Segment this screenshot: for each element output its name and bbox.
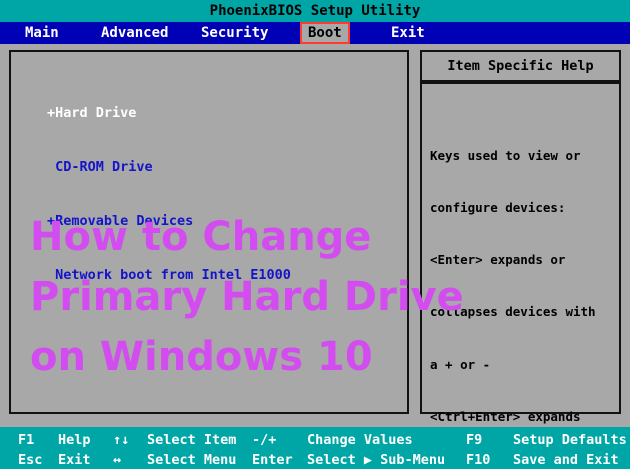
fn-key-f1[interactable]: F1 xyxy=(18,430,34,450)
item-help-title: Item Specific Help xyxy=(422,52,619,80)
boot-list-item-removable-devices[interactable]: +Removable Devices xyxy=(47,212,291,230)
fn-label-setup-defaults: Setup Defaults xyxy=(513,430,627,450)
fn-key-f9[interactable]: F9 xyxy=(466,430,482,450)
help-line: a + or - xyxy=(430,356,620,373)
function-key-row-1: F1 Help ↑↓ Select Item -/+ Change Values… xyxy=(0,430,630,450)
fn-key-updown-icon: ↑↓ xyxy=(113,430,129,450)
help-line: <Ctrl+Enter> expands xyxy=(430,408,620,425)
fn-label-save-and-exit: Save and Exit xyxy=(513,450,619,469)
fn-label-select-menu: Select Menu xyxy=(147,450,236,469)
fn-key-leftright-icon: ↔ xyxy=(113,450,121,469)
expand-marker-icon[interactable]: + xyxy=(47,213,55,229)
boot-list-item-label: Removable Devices xyxy=(55,213,193,229)
boot-list-item-cd-rom-drive[interactable]: CD-ROM Drive xyxy=(47,158,291,176)
fn-key-minus-plus[interactable]: -/+ xyxy=(252,430,276,450)
menu-tab-security[interactable]: Security xyxy=(198,22,271,44)
function-key-bar: F1 Help ↑↓ Select Item -/+ Change Values… xyxy=(0,427,630,469)
fn-label-select-submenu: Select ▶ Sub-Menu xyxy=(307,450,445,469)
fn-key-esc[interactable]: Esc xyxy=(18,450,42,469)
boot-list-item-label: CD-ROM Drive xyxy=(55,159,153,175)
help-line: collapses devices with xyxy=(430,303,620,320)
menu-tab-main[interactable]: Main xyxy=(22,22,62,44)
menu-tab-boot[interactable]: Boot xyxy=(300,22,350,44)
fn-label-exit: Exit xyxy=(58,450,91,469)
fn-key-enter[interactable]: Enter xyxy=(252,450,293,469)
boot-device-list: +Hard Drive CD-ROM Drive +Removable Devi… xyxy=(47,68,291,320)
item-help-header: Item Specific Help xyxy=(420,50,621,82)
boot-list-item-hard-drive[interactable]: +Hard Drive xyxy=(47,104,291,122)
boot-list-item-network-boot[interactable]: Network boot from Intel E1000 xyxy=(47,266,291,284)
function-key-row-2: Esc Exit ↔ Select Menu Enter Select ▶ Su… xyxy=(0,450,630,469)
app-title: PhoenixBIOS Setup Utility xyxy=(0,0,630,22)
item-help-body: Keys used to view or configure devices: … xyxy=(420,82,621,414)
help-line: <Enter> expands or xyxy=(430,251,620,268)
fn-label-select-item: Select Item xyxy=(147,430,236,450)
expand-marker-icon[interactable]: + xyxy=(47,105,55,121)
bios-setup-screen: PhoenixBIOS Setup Utility Main Advanced … xyxy=(0,0,630,469)
expand-marker-icon xyxy=(47,267,55,283)
menu-tab-advanced[interactable]: Advanced xyxy=(98,22,171,44)
item-help-text: Keys used to view or configure devices: … xyxy=(430,112,620,469)
help-line: configure devices: xyxy=(430,199,620,216)
help-line: Keys used to view or xyxy=(430,147,620,164)
fn-label-change-values: Change Values xyxy=(307,430,413,450)
boot-list-item-label: Network boot from Intel E1000 xyxy=(55,267,291,283)
fn-label-help: Help xyxy=(58,430,91,450)
expand-marker-icon xyxy=(47,159,55,175)
menu-bar: Main Advanced Security Boot Exit xyxy=(0,22,630,44)
menu-tab-exit[interactable]: Exit xyxy=(388,22,428,44)
body-region: +Hard Drive CD-ROM Drive +Removable Devi… xyxy=(0,44,630,425)
boot-list-item-label: Hard Drive xyxy=(55,105,136,121)
boot-order-panel: +Hard Drive CD-ROM Drive +Removable Devi… xyxy=(9,50,409,414)
fn-key-f10[interactable]: F10 xyxy=(466,450,490,469)
